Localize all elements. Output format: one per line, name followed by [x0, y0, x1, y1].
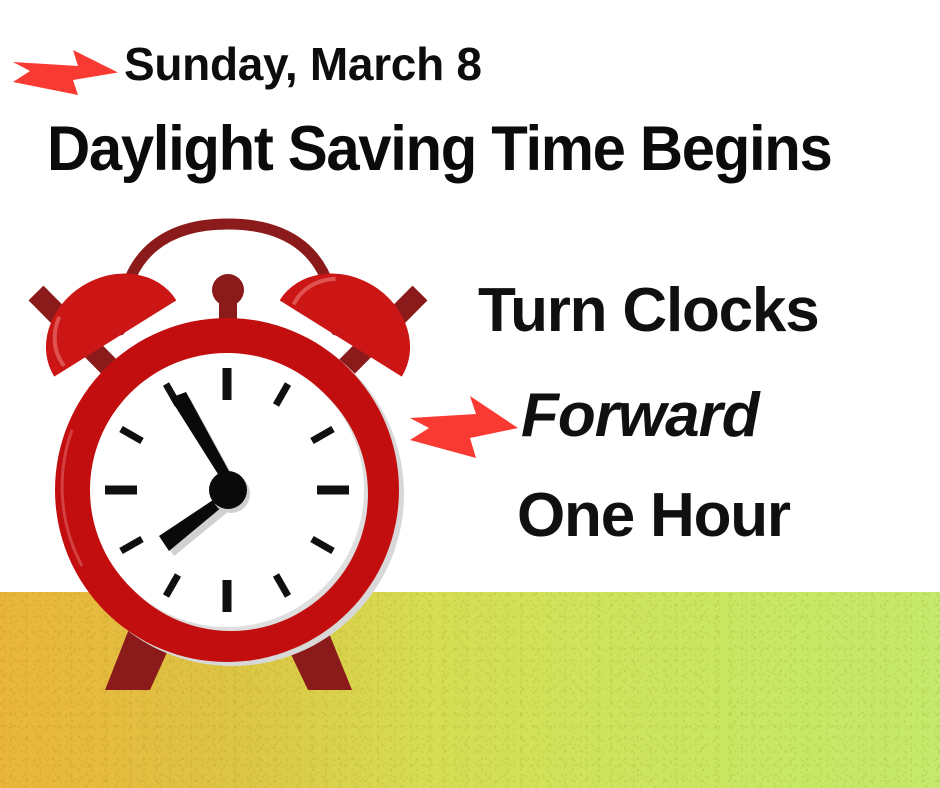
clock-center-pivot	[209, 471, 247, 509]
clock-pivot-shadow	[212, 475, 250, 513]
clock-bell-right	[280, 248, 435, 377]
clock-hammer-rods	[36, 293, 420, 410]
red-arrow-right-icon	[12, 44, 120, 105]
clock-minute-hand	[170, 392, 236, 490]
clock-ring-highlight	[62, 430, 82, 566]
clock-handle	[120, 224, 336, 330]
clock-ticks	[105, 368, 349, 612]
instruction-line-1: Turn Clocks	[478, 280, 819, 342]
instruction-line-2: Forward	[521, 385, 759, 447]
clock-hour-hand	[159, 490, 234, 551]
clock-bell-left	[21, 248, 176, 377]
ground-background	[0, 592, 940, 788]
clock-knob	[212, 274, 244, 342]
clock-face	[90, 353, 364, 627]
daylight-saving-poster: Sunday, March 8 Daylight Saving Time Beg…	[0, 0, 940, 788]
red-arrow-right-icon	[408, 392, 520, 469]
instruction-line-3: One Hour	[517, 485, 790, 547]
clock-hands-shadow	[164, 398, 240, 556]
page-title: Daylight Saving Time Begins	[47, 118, 831, 181]
ground-texture	[0, 592, 940, 788]
clock-face-shadow	[94, 357, 368, 631]
date-line: Sunday, March 8	[124, 41, 482, 87]
